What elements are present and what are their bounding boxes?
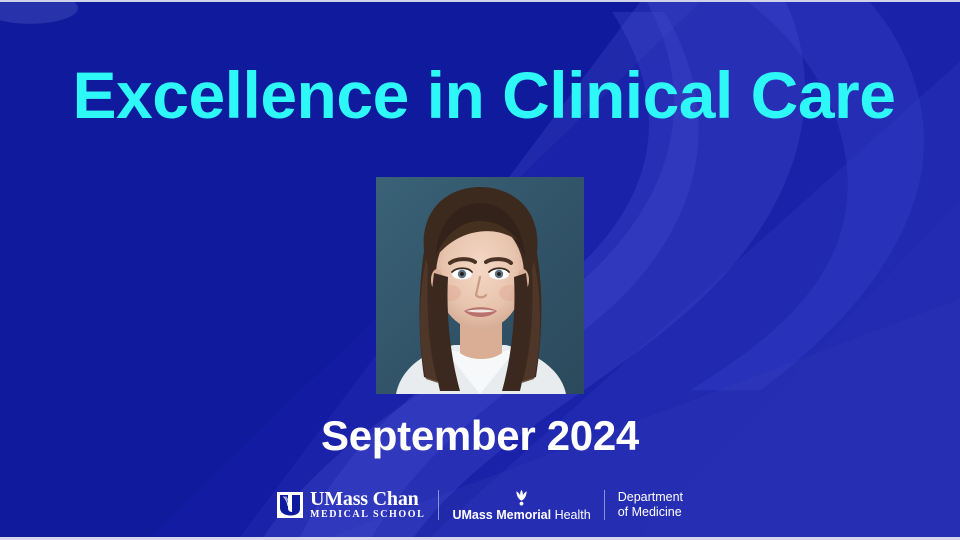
- slide-title: Excellence in Clinical Care: [28, 62, 940, 129]
- department-line-1: Department: [618, 490, 683, 505]
- speaker-portrait-photo: [376, 177, 584, 394]
- slide-date: September 2024: [0, 412, 960, 460]
- umass-chan-logo: UMass Chan MEDICAL SCHOOL: [264, 485, 438, 525]
- umass-memorial-name: UMass Memorial Health: [452, 508, 590, 522]
- umass-chan-u-emblem-icon: [277, 492, 303, 518]
- umass-memorial-tulip-icon: [513, 489, 530, 506]
- umass-memorial-health-logo: UMass Memorial Health: [439, 485, 603, 525]
- department-of-medicine-logo: Department of Medicine: [605, 485, 696, 525]
- umass-memorial-name-bold: UMass Memorial: [452, 508, 551, 522]
- umass-chan-name: UMass Chan: [310, 489, 425, 509]
- logo-divider-2: [604, 490, 605, 520]
- umass-chan-subtitle: MEDICAL SCHOOL: [310, 509, 425, 521]
- logo-divider-1: [438, 490, 439, 520]
- umass-memorial-name-light: Health: [551, 508, 591, 522]
- department-line-2: of Medicine: [618, 505, 683, 520]
- logo-bar: UMass Chan MEDICAL SCHOOL UMass Memorial…: [0, 483, 960, 527]
- presentation-slide: Excellence in Clinical Care: [0, 0, 960, 540]
